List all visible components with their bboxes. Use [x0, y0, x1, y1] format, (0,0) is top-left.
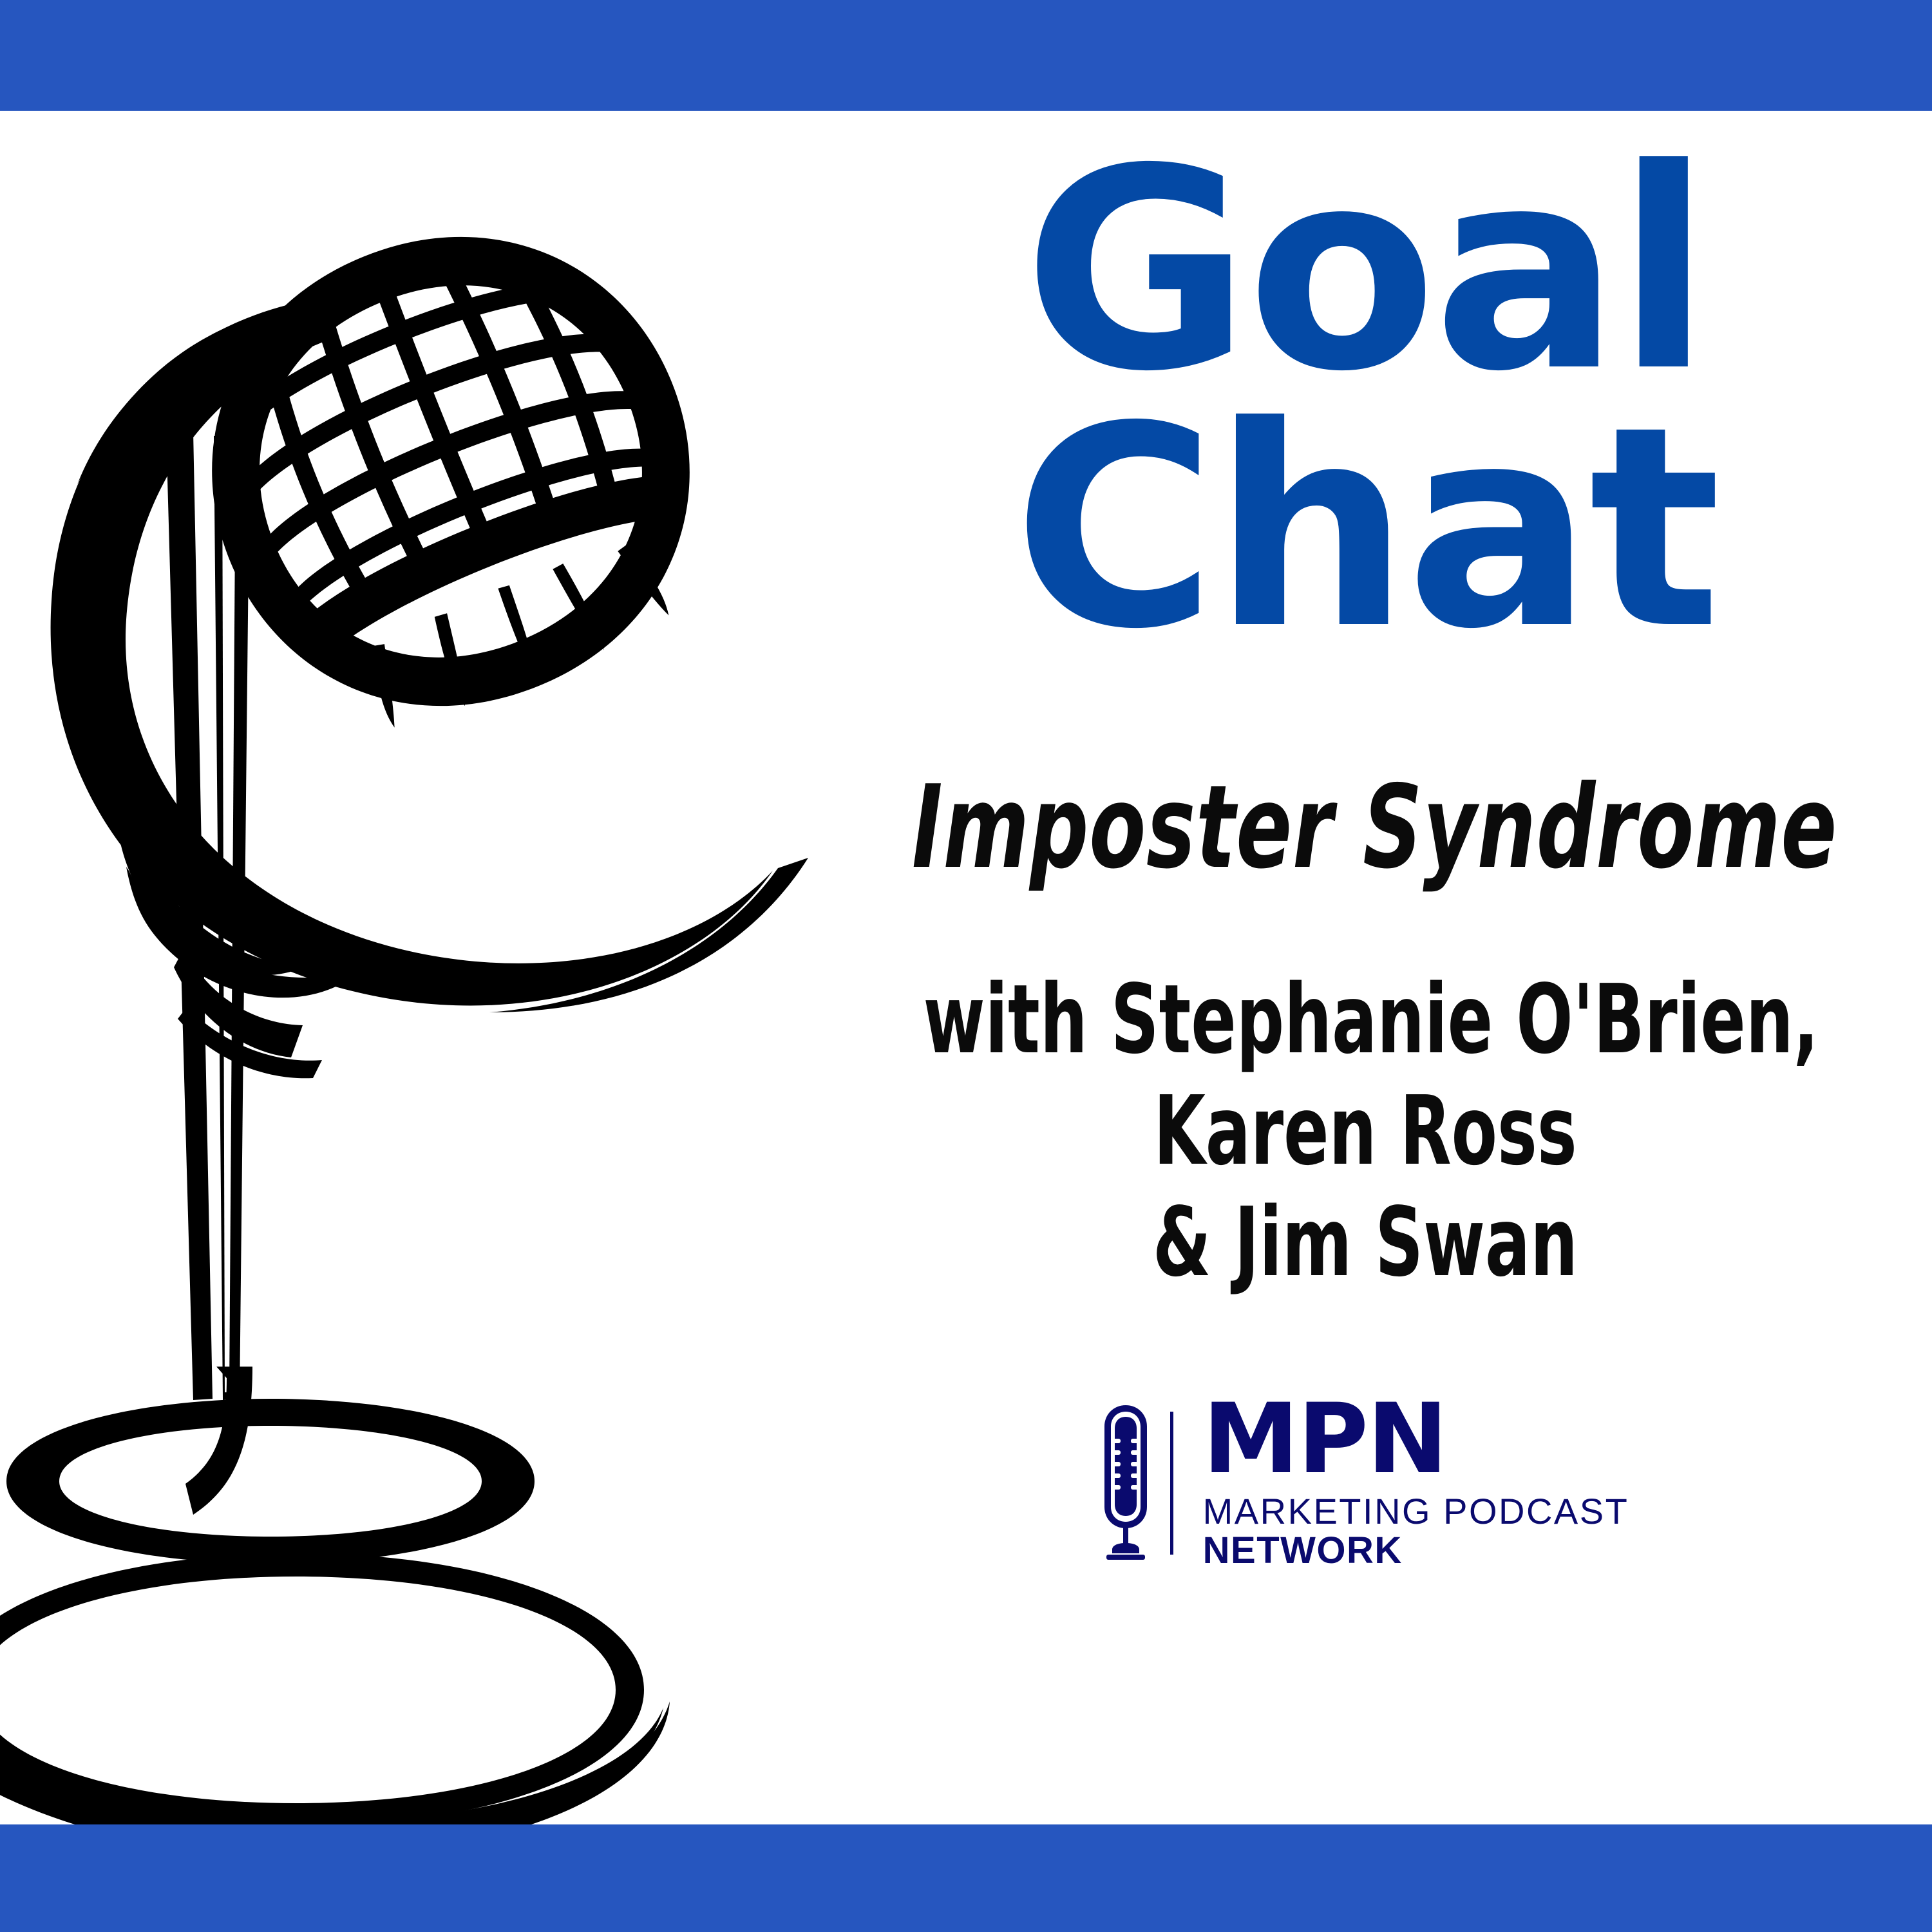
microphone-illustration	[0, 111, 811, 1824]
network-divider	[1170, 1412, 1173, 1555]
podcast-cover-art: Goal Chat Imposter Syndrome with Stephan…	[0, 0, 1932, 1932]
mpn-podcast-mic-icon	[1102, 1403, 1150, 1564]
network-logo: MPN MARKETING PODCAST NETWORK	[1102, 1395, 1629, 1571]
hosts-line3: & Jim Swan	[923, 1187, 1808, 1298]
show-title-line2: Chat	[799, 401, 1932, 658]
network-abbreviation: MPN	[1203, 1395, 1629, 1485]
network-subtitle-line1: MARKETING PODCAST	[1203, 1492, 1629, 1532]
network-subtitle-line2: NETWORK	[1203, 1531, 1629, 1571]
top-blue-band	[0, 0, 1932, 111]
hosts-credits: with Stephanie O'Brien, Karen Ross & Jim…	[923, 964, 1808, 1298]
network-wordmark: MPN MARKETING PODCAST NETWORK	[1203, 1395, 1629, 1571]
hosts-line2: Karen Ross	[923, 1075, 1808, 1187]
episode-title: Imposter Syndrome	[912, 768, 1819, 888]
page-title: Goal Chat	[799, 111, 1932, 658]
hosts-line1: with Stephanie O'Brien,	[923, 964, 1808, 1075]
text-column: Goal Chat Imposter Syndrome with Stephan…	[799, 111, 1932, 1824]
bottom-blue-band	[0, 1824, 1932, 1932]
